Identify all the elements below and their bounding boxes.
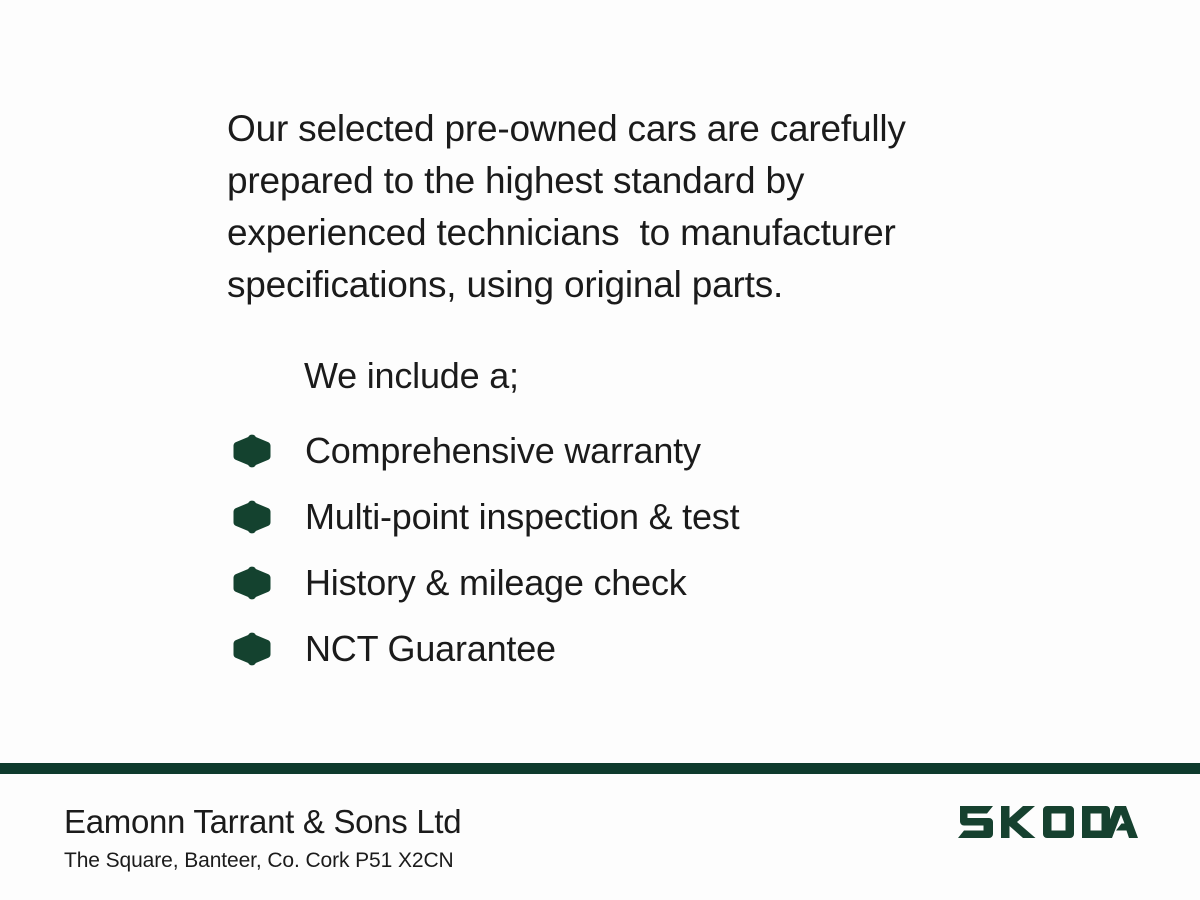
- list-item-label: History & mileage check: [305, 561, 687, 605]
- list-item: History & mileage check: [232, 550, 992, 616]
- list-item-label: Comprehensive warranty: [305, 429, 701, 473]
- dealer-name: Eamonn Tarrant & Sons Ltd: [64, 802, 461, 842]
- dealer-address: The Square, Banteer, Co. Cork P51 X2CN: [64, 847, 454, 875]
- headline-line-1: Our selected pre-owned cars are carefull…: [227, 103, 1017, 155]
- include-label: We include a;: [304, 352, 519, 400]
- headline-line-2: prepared to the highest standard by: [227, 155, 1017, 207]
- brand-divider-bar: [0, 763, 1200, 774]
- headline-line-4: specifications, using original parts.: [227, 259, 1017, 311]
- headline-paragraph: Our selected pre-owned cars are carefull…: [227, 103, 1017, 311]
- hexagon-bullet-icon: [232, 498, 274, 536]
- advert-slide: Our selected pre-owned cars are carefull…: [0, 0, 1200, 900]
- list-item-label: Multi-point inspection & test: [305, 495, 739, 539]
- list-item-label: NCT Guarantee: [305, 627, 556, 671]
- hexagon-bullet-icon: [232, 564, 274, 602]
- hexagon-bullet-icon: [232, 432, 274, 470]
- list-item: NCT Guarantee: [232, 616, 992, 682]
- list-item: Multi-point inspection & test: [232, 484, 992, 550]
- skoda-wordmark-icon: [958, 800, 1138, 844]
- list-item: Comprehensive warranty: [232, 418, 992, 484]
- headline-line-3: experienced technicians to manufacturer: [227, 207, 1017, 259]
- benefits-list: Comprehensive warranty Multi-point inspe…: [232, 418, 992, 682]
- hexagon-bullet-icon: [232, 630, 274, 668]
